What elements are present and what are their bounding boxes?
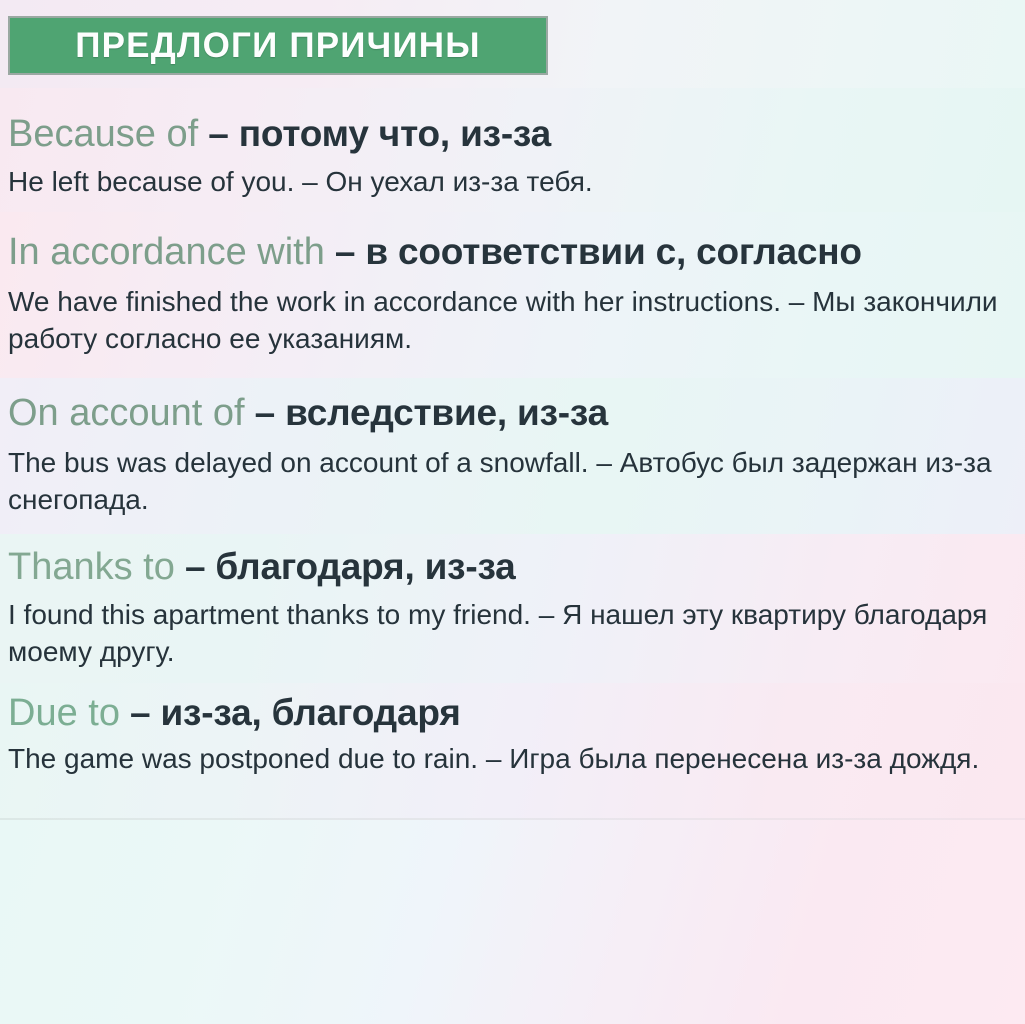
preposition-entry: In accordance with – в соответствии с, с…: [0, 212, 1025, 378]
entry-separator: –: [245, 392, 286, 433]
header-row: ПРЕДЛОГИ ПРИЧИНЫ: [0, 0, 1025, 88]
footer-blank-area: [0, 820, 1025, 1024]
entry-separator: –: [120, 692, 161, 733]
example-sentence: He left because of you. – Он уехал из-за…: [8, 156, 1017, 201]
english-term: In accordance with: [8, 231, 325, 273]
page-title: ПРЕДЛОГИ ПРИЧИНЫ: [75, 28, 480, 63]
example-sentence: The bus was delayed on account of a snow…: [8, 435, 1017, 519]
english-term: On account of: [8, 392, 245, 434]
english-term: Due to: [8, 692, 120, 734]
infographic-page: ПРЕДЛОГИ ПРИЧИНЫ Because of – потому что…: [0, 0, 1025, 1024]
preposition-entry: Thanks to – благодаря, из-за I found thi…: [0, 534, 1025, 683]
english-term: Thanks to: [8, 546, 175, 588]
entry-headline: Due to – из-за, благодаря: [8, 683, 1017, 735]
russian-translation: вследствие, из-за: [285, 392, 608, 433]
preposition-entry: On account of – вследствие, из-за The bu…: [0, 378, 1025, 534]
english-term: Because of: [8, 113, 198, 155]
title-banner: ПРЕДЛОГИ ПРИЧИНЫ: [8, 16, 548, 75]
entry-headline: In accordance with – в соответствии с, с…: [8, 212, 1017, 274]
example-sentence: The game was postponed due to rain. – Иг…: [8, 735, 1017, 778]
russian-translation: потому что, из-за: [239, 113, 551, 154]
preposition-entry: Due to – из-за, благодаря The game was p…: [0, 683, 1025, 820]
entry-headline: Thanks to – благодаря, из-за: [8, 534, 1017, 589]
entry-separator: –: [175, 546, 216, 587]
entry-headline: Because of – потому что, из-за: [8, 88, 1017, 156]
example-sentence: We have finished the work in accordance …: [8, 274, 1017, 358]
russian-translation: в соответствии с, согласно: [365, 231, 861, 272]
entry-separator: –: [325, 231, 366, 272]
russian-translation: из-за, благодаря: [161, 692, 461, 733]
preposition-entry: Because of – потому что, из-за He left b…: [0, 88, 1025, 212]
entry-separator: –: [198, 113, 239, 154]
entry-headline: On account of – вследствие, из-за: [8, 378, 1017, 435]
example-sentence: I found this apartment thanks to my frie…: [8, 589, 1017, 671]
russian-translation: благодаря, из-за: [215, 546, 515, 587]
